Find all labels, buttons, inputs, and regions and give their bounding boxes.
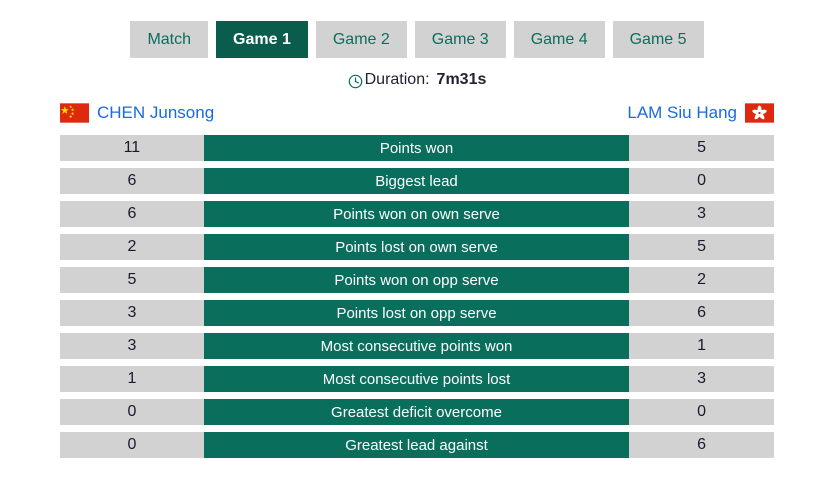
row-left-value: 11 (60, 135, 204, 161)
row-left-value: 3 (60, 300, 204, 326)
row-stat-label: Points won on own serve (204, 201, 629, 227)
row-right-value: 1 (629, 333, 774, 359)
row-right-value: 0 (629, 168, 774, 194)
row-right-value: 5 (629, 135, 774, 161)
table-row: 6 Points won on own serve 3 (60, 201, 774, 227)
table-row: 5 Points won on opp serve 2 (60, 267, 774, 293)
row-stat-label: Points won on opp serve (204, 267, 629, 293)
player-right[interactable]: LAM Siu Hang (627, 103, 774, 123)
china-flag-icon (60, 103, 89, 123)
row-right-value: 3 (629, 201, 774, 227)
row-stat-label: Points lost on opp serve (204, 300, 629, 326)
tab-game-1[interactable]: Game 1 (216, 21, 308, 58)
row-right-value: 5 (629, 234, 774, 260)
hong-kong-flag-icon (745, 103, 774, 123)
row-left-value: 6 (60, 168, 204, 194)
tab-game-2[interactable]: Game 2 (316, 21, 407, 58)
row-stat-label: Most consecutive points lost (204, 366, 629, 392)
player-left[interactable]: CHEN Junsong (60, 103, 214, 123)
table-row: 0 Greatest deficit overcome 0 (60, 399, 774, 425)
row-stat-label: Greatest lead against (204, 432, 629, 458)
row-left-value: 0 (60, 399, 204, 425)
player-left-name: CHEN Junsong (97, 103, 214, 123)
row-right-value: 6 (629, 300, 774, 326)
row-stat-label: Most consecutive points won (204, 333, 629, 359)
tab-game-3[interactable]: Game 3 (415, 21, 506, 58)
table-row: 3 Points lost on opp serve 6 (60, 300, 774, 326)
duration-label: Duration: (365, 71, 430, 89)
player-right-name: LAM Siu Hang (627, 103, 737, 123)
tab-game-5[interactable]: Game 5 (613, 21, 704, 58)
row-right-value: 2 (629, 267, 774, 293)
row-left-value: 3 (60, 333, 204, 359)
row-left-value: 1 (60, 366, 204, 392)
table-row: 6 Biggest lead 0 (60, 168, 774, 194)
game-tab-bar: Match Game 1 Game 2 Game 3 Game 4 Game 5 (0, 0, 834, 58)
table-row: 2 Points lost on own serve 5 (60, 234, 774, 260)
table-row: 1 Most consecutive points lost 3 (60, 366, 774, 392)
duration-line: Duration: 7m31s (0, 71, 834, 89)
row-right-value: 6 (629, 432, 774, 458)
row-left-value: 0 (60, 432, 204, 458)
table-row: 3 Most consecutive points won 1 (60, 333, 774, 359)
tab-match[interactable]: Match (130, 21, 208, 58)
tab-game-4[interactable]: Game 4 (514, 21, 605, 58)
table-row: 11 Points won 5 (60, 135, 774, 161)
stats-table: 11 Points won 5 6 Biggest lead 0 6 Point… (0, 135, 834, 458)
players-header: CHEN Junsong LAM Siu Hang (0, 101, 834, 125)
row-right-value: 0 (629, 399, 774, 425)
row-stat-label: Points lost on own serve (204, 234, 629, 260)
row-stat-label: Greatest deficit overcome (204, 399, 629, 425)
row-stat-label: Biggest lead (204, 168, 629, 194)
row-left-value: 6 (60, 201, 204, 227)
row-right-value: 3 (629, 366, 774, 392)
clock-icon (348, 74, 363, 89)
row-stat-label: Points won (204, 135, 629, 161)
duration-value: 7m31s (437, 71, 487, 89)
row-left-value: 5 (60, 267, 204, 293)
table-row: 0 Greatest lead against 6 (60, 432, 774, 458)
row-left-value: 2 (60, 234, 204, 260)
